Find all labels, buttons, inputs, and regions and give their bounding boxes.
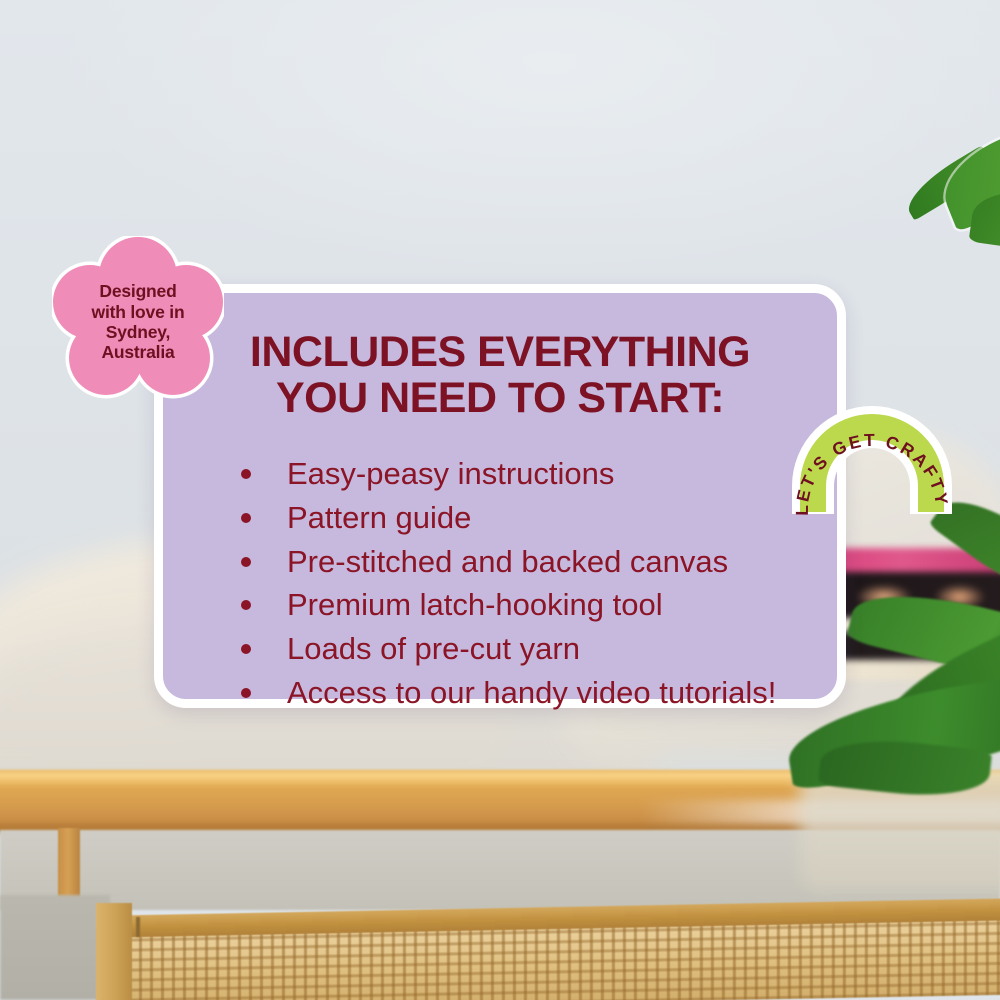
list-item-label: Pattern guide [287,499,471,537]
list-item: Easy-peasy instructions [241,455,837,493]
list-item: Premium latch-hooking tool [241,586,837,624]
designed-in-sydney-badge: Designed with love in Sydney, Australia [52,236,224,408]
list-item-label: Loads of pre-cut yarn [287,630,580,668]
cane-corner-nail [136,917,140,937]
list-item-label: Access to our handy video tutorials! [287,674,776,712]
list-item: Loads of pre-cut yarn [241,630,837,668]
bullet-dot-icon [241,600,251,610]
promo-graphic: INCLUDES EVERYTHING YOU NEED TO START: E… [0,0,1000,1000]
list-item-label: Pre-stitched and backed canvas [287,543,728,581]
includes-list: Easy-peasy instructions Pattern guide Pr… [241,455,837,712]
flower-icon [52,236,224,408]
bullet-dot-icon [241,469,251,479]
list-item: Access to our handy video tutorials! [241,674,837,712]
includes-card: INCLUDES EVERYTHING YOU NEED TO START: E… [154,284,846,708]
bullet-dot-icon [241,513,251,523]
cane-seat [0,895,1000,1000]
list-item-label: Easy-peasy instructions [287,455,614,493]
list-item-label: Premium latch-hooking tool [287,586,663,624]
arch-icon: LET'S GET CRAFTY! [772,386,972,514]
card-heading: INCLUDES EVERYTHING YOU NEED TO START: [201,329,799,421]
bullet-dot-icon [241,688,251,698]
list-item: Pattern guide [241,499,837,537]
cane-frame-left [96,903,132,1000]
list-item: Pre-stitched and backed canvas [241,543,837,581]
lets-get-crafty-badge: LET'S GET CRAFTY! [772,386,972,514]
bullet-dot-icon [241,644,251,654]
bullet-dot-icon [241,557,251,567]
